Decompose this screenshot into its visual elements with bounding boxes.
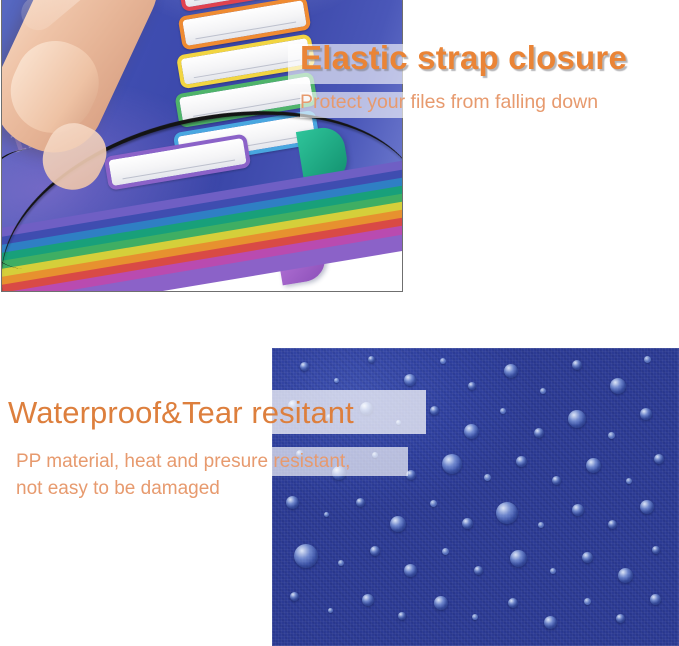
water-droplet xyxy=(640,500,654,514)
water-droplet xyxy=(338,560,344,566)
water-droplet xyxy=(324,512,329,517)
water-droplet xyxy=(550,568,556,574)
waterproof-text-block: Waterproof&Tear resitant PP material, he… xyxy=(8,392,568,502)
water-droplet xyxy=(496,502,518,524)
water-droplet xyxy=(640,408,652,420)
water-droplet xyxy=(462,518,473,529)
water-droplet xyxy=(650,594,661,605)
water-droplet xyxy=(468,382,476,390)
water-droplet xyxy=(508,598,518,608)
water-droplet xyxy=(572,360,582,370)
water-droplet xyxy=(610,378,626,394)
water-droplet xyxy=(440,358,446,364)
water-droplet xyxy=(616,614,625,623)
water-droplet xyxy=(582,552,593,563)
water-droplet xyxy=(362,594,374,606)
water-droplet xyxy=(618,568,633,583)
collage-stage: 11 11 12 8 9 xyxy=(0,0,679,646)
water-droplet xyxy=(472,614,478,620)
water-droplet xyxy=(404,564,417,577)
water-droplet xyxy=(294,544,318,568)
waterproof-headline: Waterproof&Tear resitant xyxy=(8,392,568,434)
water-droplet xyxy=(370,546,380,556)
water-droplet xyxy=(568,410,586,428)
water-droplet xyxy=(328,608,333,613)
water-droplet xyxy=(544,616,557,629)
water-droplet xyxy=(334,378,339,383)
water-droplet xyxy=(404,374,416,386)
water-droplet xyxy=(368,356,375,363)
water-droplet xyxy=(510,550,527,567)
water-droplet xyxy=(434,596,448,610)
water-droplet xyxy=(644,356,651,363)
water-droplet xyxy=(538,522,544,528)
water-droplet xyxy=(474,566,483,575)
water-droplet xyxy=(572,504,584,516)
water-droplet xyxy=(626,478,632,484)
elastic-strap-headline: Elastic strap closure xyxy=(300,36,679,80)
waterproof-subtitle-line-2: not easy to be damaged xyxy=(8,475,568,502)
water-droplet xyxy=(586,458,601,473)
water-droplet xyxy=(504,364,518,378)
water-droplet xyxy=(290,592,299,601)
water-droplet xyxy=(654,454,664,464)
water-droplet xyxy=(652,546,660,554)
elastic-strap-subtitle: Protect your files from falling down xyxy=(300,88,679,116)
water-droplet xyxy=(398,612,406,620)
water-droplet xyxy=(300,362,309,371)
water-droplet xyxy=(608,520,617,529)
water-droplet xyxy=(442,548,449,555)
waterproof-subtitle-line-1: PP material, heat and presure resistant, xyxy=(8,448,568,475)
water-droplet xyxy=(608,432,615,439)
elastic-strap-text-block: Elastic strap closure Protect your files… xyxy=(300,36,679,116)
water-droplet xyxy=(584,598,591,605)
water-droplet xyxy=(390,516,406,532)
